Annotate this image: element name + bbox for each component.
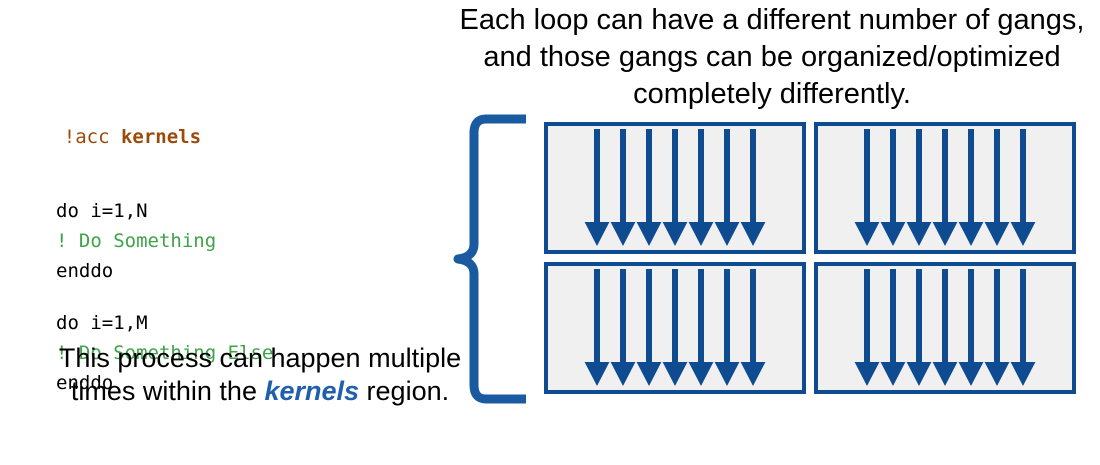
- code-listing: !acc kernels do i=1,N! Do Somethingenddo…: [0, 92, 440, 342]
- down-arrow-icon: [611, 269, 636, 386]
- process-caption-part2: region.: [359, 376, 449, 406]
- gang-arrow-group: [548, 266, 802, 390]
- down-arrow-icon: [663, 129, 688, 246]
- down-arrow-icon: [1011, 129, 1036, 246]
- code-line-stmt: enddo: [56, 256, 440, 286]
- down-arrow-icon: [585, 129, 610, 246]
- down-arrow-icon: [741, 129, 766, 246]
- down-arrow-icon: [715, 269, 740, 386]
- gang-box-top-left: [544, 122, 806, 254]
- gang-box-bottom-right: [814, 262, 1076, 394]
- down-arrow-icon: [741, 269, 766, 386]
- directive-prefix: !acc: [64, 126, 121, 148]
- down-arrow-icon: [933, 269, 958, 386]
- gang-box-grid: [544, 122, 1078, 394]
- down-arrow-icon: [611, 129, 636, 246]
- down-arrow-icon: [881, 129, 906, 246]
- down-arrow-icon: [637, 129, 662, 246]
- down-arrow-icon: [715, 129, 740, 246]
- down-arrow-icon: [689, 269, 714, 386]
- gang-arrow-group: [548, 126, 802, 250]
- code-line-comment: ! Do Something: [56, 226, 440, 256]
- directive-keyword: kernels: [121, 126, 201, 148]
- gang-box-top-right: [814, 122, 1076, 254]
- down-arrow-icon: [689, 129, 714, 246]
- gang-box-bottom-left: [544, 262, 806, 394]
- down-arrow-icon: [907, 269, 932, 386]
- down-arrow-icon: [907, 129, 932, 246]
- down-arrow-icon: [1011, 269, 1036, 386]
- code-directive-line: !acc kernels: [18, 92, 440, 182]
- code-line-stmt: do i=1,N: [56, 196, 440, 226]
- code-line-stmt: do i=1,M: [56, 308, 440, 338]
- process-caption: This process can happen multiple times w…: [58, 342, 462, 408]
- down-arrow-icon: [855, 129, 880, 246]
- gang-arrow-group: [818, 266, 1072, 390]
- down-arrow-icon: [855, 269, 880, 386]
- down-arrow-icon: [985, 129, 1010, 246]
- down-arrow-icon: [933, 129, 958, 246]
- down-arrow-icon: [959, 129, 984, 246]
- gang-arrow-group: [818, 126, 1072, 250]
- down-arrow-icon: [637, 269, 662, 386]
- curly-brace-icon: [452, 112, 528, 406]
- gang-note-text: Each loop can have a different number of…: [448, 2, 1096, 113]
- down-arrow-icon: [663, 269, 688, 386]
- process-caption-emphasis: kernels: [264, 376, 359, 406]
- down-arrow-icon: [959, 269, 984, 386]
- down-arrow-icon: [985, 269, 1010, 386]
- code-blank-line: [0, 286, 440, 308]
- down-arrow-icon: [585, 269, 610, 386]
- down-arrow-icon: [881, 269, 906, 386]
